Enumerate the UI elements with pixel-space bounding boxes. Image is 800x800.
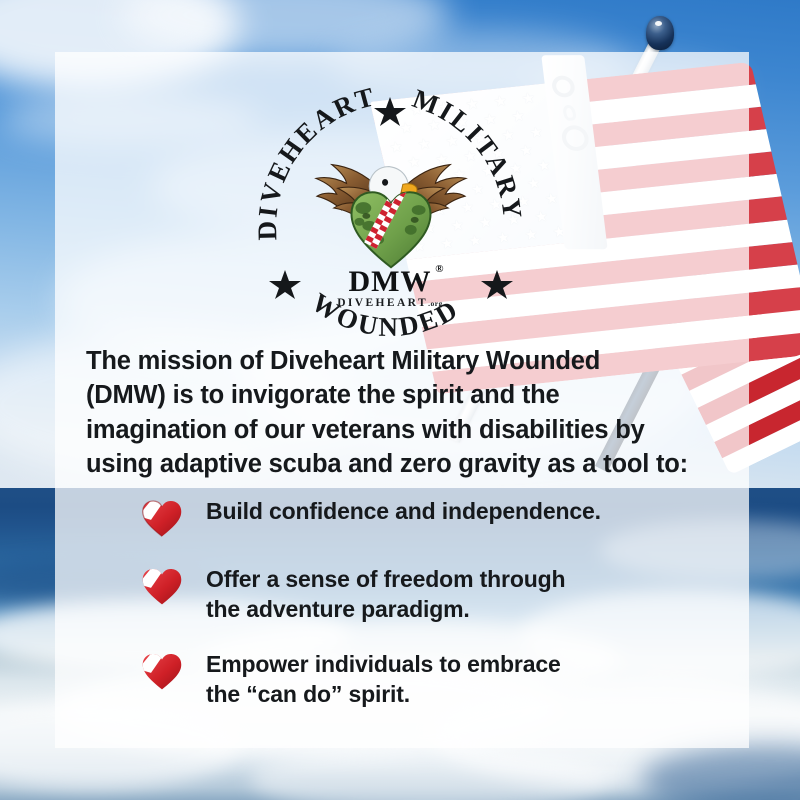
mission-statement: The mission of Diveheart Military Wounde…: [86, 344, 696, 482]
poster-canvas: ★★★★★★★★★★★★★★★★★★★★★★★★★★★★★★★★★★★★★★★★…: [0, 0, 800, 800]
mission-line: The mission of Diveheart Military Wounde…: [86, 344, 696, 378]
list-item-line: Offer a sense of freedom through: [206, 564, 565, 594]
mission-line: (DMW) is to invigorate the spirit and th…: [86, 378, 696, 412]
dmw-logo: DIVEHEART MILITARY WOUNDED: [250, 80, 530, 360]
benefits-list: Build confidence and independence. Offer…: [140, 494, 700, 731]
dmw-wordmark-block: DMW® DIVEHEART.org: [250, 265, 530, 309]
dive-flag-heart-icon: [140, 564, 184, 608]
list-item-line: Empower individuals to embrace: [206, 649, 561, 679]
dmw-wordmark: DMW: [349, 265, 432, 299]
dive-flag-heart-icon: [140, 649, 184, 693]
registered-mark: ®: [435, 263, 444, 275]
list-item: Empower individuals to embrace the “can …: [140, 647, 700, 710]
eagle-eye: [382, 179, 388, 186]
list-item-line: the adventure paradigm.: [206, 594, 565, 624]
mission-line: using adaptive scuba and zero gravity as…: [86, 447, 696, 481]
list-item: Offer a sense of freedom through the adv…: [140, 562, 700, 625]
list-item-line: Build confidence and independence.: [206, 496, 601, 526]
list-item: Build confidence and independence.: [140, 494, 700, 540]
list-item-text: Empower individuals to embrace the “can …: [206, 647, 561, 710]
list-item-text: Offer a sense of freedom through the adv…: [206, 562, 565, 625]
logo-star-icon: [374, 97, 406, 126]
dive-flag-heart-icon: [140, 496, 184, 540]
finial-glint: [655, 21, 662, 26]
dmw-sub-suffix: .org: [428, 299, 443, 308]
list-item-line: the “can do” spirit.: [206, 679, 561, 709]
list-item-text: Build confidence and independence.: [206, 494, 601, 526]
mission-line: imagination of our veterans with disabil…: [86, 413, 696, 447]
